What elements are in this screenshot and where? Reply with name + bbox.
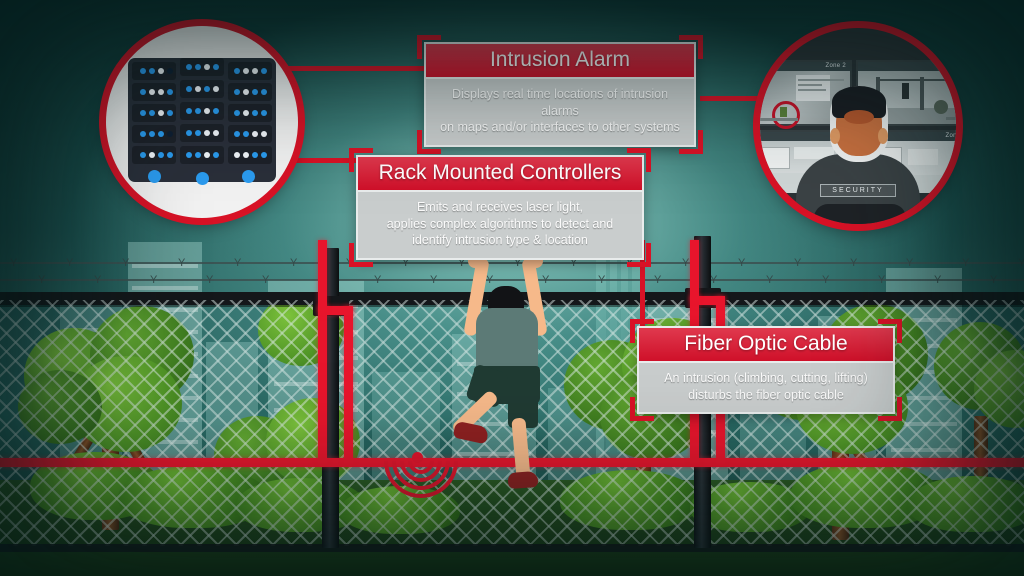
callout-body-line: Displays real time locations of intrusio…: [435, 86, 685, 119]
barbed-wire-barb: Y: [38, 275, 45, 286]
barbed-wire-barb: Y: [990, 275, 997, 286]
callout-body-line: An intrusion (climbing, cutting, lifting…: [648, 370, 884, 387]
barbed-wire-barb: Y: [962, 258, 969, 269]
corner-bracket: [679, 35, 703, 59]
callout-body: An intrusion (climbing, cutting, lifting…: [639, 363, 893, 412]
corner-bracket: [349, 148, 373, 172]
barbed-wire-barb: Y: [850, 258, 857, 269]
corner-bracket: [627, 243, 651, 267]
barbed-wire-barb: Y: [738, 258, 745, 269]
server-rack-icon: [128, 58, 276, 182]
corner-bracket: [878, 319, 902, 343]
barbed-wire-barb: Y: [430, 275, 437, 286]
guard-ear: [878, 128, 888, 144]
barbed-wire-barb: Y: [150, 275, 157, 286]
barbed-wire-barb: Y: [10, 258, 17, 269]
guard-ear: [830, 128, 840, 144]
callout-title: Intrusion Alarm: [426, 44, 694, 79]
corner-bracket: [878, 397, 902, 421]
callout-rack-mounted-controllers[interactable]: Rack Mounted Controllers Emits and recei…: [356, 155, 644, 260]
intrusion-signal-waves: [388, 424, 458, 490]
callout-fiber-optic-cable[interactable]: Fiber Optic Cable An intrusion (climbing…: [637, 326, 895, 414]
barbed-wire-barb: Y: [374, 275, 381, 286]
barbed-wire-barb: Y: [290, 258, 297, 269]
barbed-wire-barb: Y: [1018, 258, 1024, 269]
barbed-wire-barb: Y: [402, 258, 409, 269]
guard-cap-brim: [844, 110, 874, 124]
corner-bracket: [417, 35, 441, 59]
barbed-wire-barb: Y: [934, 275, 941, 286]
barbed-wire-barb: Y: [234, 258, 241, 269]
corner-bracket: [349, 243, 373, 267]
office-chair: [814, 204, 906, 224]
callout-body: Displays real time locations of intrusio…: [426, 79, 694, 145]
barbed-wire-barb: Y: [66, 258, 73, 269]
barbed-wire-barb: Y: [682, 258, 689, 269]
server-rack-inset[interactable]: [106, 26, 298, 218]
callout-title: Fiber Optic Cable: [639, 328, 893, 363]
callout-body-line: applies complex algorithms to detect and: [367, 216, 633, 233]
corner-bracket: [417, 130, 441, 154]
connector-line: [268, 66, 428, 71]
climber-shoe: [507, 471, 538, 489]
security-operator-inset[interactable]: Zone 2: [760, 28, 956, 224]
callout-title: Rack Mounted Controllers: [358, 157, 642, 192]
climber-shoe: [453, 421, 490, 445]
callout-intrusion-alarm[interactable]: Intrusion Alarm Displays real time locat…: [424, 42, 696, 147]
barbed-wire-barb: Y: [262, 275, 269, 286]
corner-bracket: [630, 319, 654, 343]
barbed-wire-barb: Y: [878, 275, 885, 286]
infographic-scene: YYYYYYYYYYYYYYYYYYYYYYYYYYYYYYYYYYYYYYYY…: [0, 0, 1024, 576]
callout-body-line: on maps and/or interfaces to other syste…: [435, 119, 685, 136]
barbed-wire-barb: Y: [178, 258, 185, 269]
barbed-wire-barb: Y: [710, 275, 717, 286]
fence-climber-figure: [452, 246, 572, 451]
callout-body-line: disturbs the fiber optic cable: [648, 387, 884, 404]
corner-bracket: [627, 148, 651, 172]
barbed-wire-barb: Y: [822, 275, 829, 286]
barbed-wire-barb: Y: [654, 275, 661, 286]
barbed-wire-barb: Y: [794, 258, 801, 269]
callout-body-line: identify intrusion type & location: [367, 232, 633, 249]
corner-bracket: [679, 130, 703, 154]
barbed-wire-barb: Y: [94, 275, 101, 286]
security-badge: SECURITY: [820, 184, 896, 197]
fence-bottom-rail: [0, 544, 1024, 552]
barbed-wire-barb: Y: [766, 275, 773, 286]
barbed-wire-barb: Y: [598, 275, 605, 286]
barbed-wire-barb: Y: [906, 258, 913, 269]
callout-body-line: Emits and receives laser light,: [367, 199, 633, 216]
barbed-wire-barb: Y: [122, 258, 129, 269]
corner-bracket: [630, 397, 654, 421]
barbed-wire-barb: Y: [206, 275, 213, 286]
security-operator-figure: SECURITY: [760, 28, 956, 224]
callout-body: Emits and receives laser light, applies …: [358, 192, 642, 258]
